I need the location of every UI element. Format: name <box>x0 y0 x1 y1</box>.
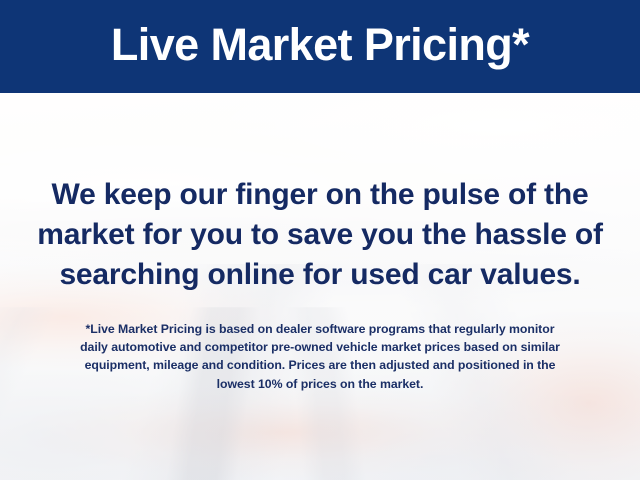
page-title: Live Market Pricing* <box>0 0 640 93</box>
disclaimer-line-4: lowest 10% of prices on the market. <box>26 375 614 393</box>
disclaimer-line-1: *Live Market Pricing is based on dealer … <box>26 320 614 338</box>
disclaimer-line-3: equipment, mileage and condition. Prices… <box>26 356 614 374</box>
headline-line-1: We keep our finger on the pulse of the <box>20 175 620 215</box>
headline: We keep our finger on the pulse of the m… <box>20 175 620 295</box>
header-bar: Live Market Pricing* <box>0 0 640 93</box>
content-area: We keep our finger on the pulse of the m… <box>0 93 640 480</box>
headline-line-2: market for you to save you the hassle of <box>20 215 620 255</box>
disclaimer-line-2: daily automotive and competitor pre-owne… <box>26 338 614 356</box>
disclaimer-text: *Live Market Pricing is based on dealer … <box>26 320 614 393</box>
headline-line-3: searching online for used car values. <box>20 255 620 295</box>
promo-banner: Live Market Pricing* We keep our finger … <box>0 0 640 480</box>
